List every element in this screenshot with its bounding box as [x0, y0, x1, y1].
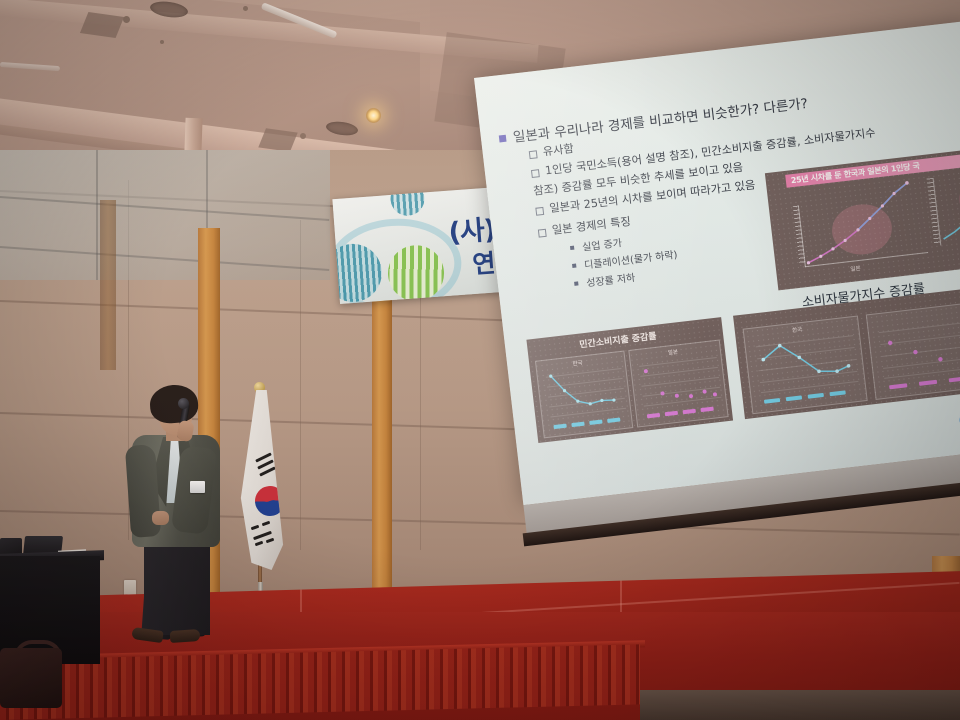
chart-group-cpi: 한국	[733, 284, 960, 419]
panel-label: 한국	[572, 358, 583, 367]
section-title-cpi: 소비자물가지수 증감률	[801, 278, 926, 311]
slide-bullet: 1인당 국민소득(용어 설명 참조), 민간소비지출 증감률, 소비자물가지수	[544, 124, 876, 178]
panel-label: 일본	[667, 347, 678, 356]
line-korea-cpi	[744, 317, 867, 414]
slide-subbullet: 성장률 저하	[585, 269, 636, 290]
chart-group-consumption: 민간소비지출 증감률 한국	[526, 317, 733, 443]
event-banner: (사) 연	[332, 187, 505, 304]
microphone-head	[178, 398, 189, 409]
bullet-marker-level3	[574, 281, 578, 285]
sprinkler-icon	[243, 6, 248, 11]
hall-pillar	[372, 268, 392, 618]
chart-panel-japan: 일본	[628, 339, 728, 427]
slide-heading: 일본과 우리나라 경제를 비교하면 비슷한가? 다른가?	[512, 92, 809, 146]
slide-surface: 일본과 우리나라 경제를 비교하면 비슷한가? 다른가? 유사함 1인당 국민소…	[474, 21, 960, 506]
line-japan-consumption	[629, 341, 727, 427]
y-axis	[933, 178, 942, 246]
chart-income-line-right	[930, 147, 960, 272]
y-axis-ticks	[927, 178, 941, 244]
bag[interactable]	[0, 648, 62, 708]
chart-panel-japan-cpi	[866, 301, 960, 400]
panel-label: 한국	[792, 325, 803, 334]
taeguk-symbol	[250, 481, 291, 522]
x-axis	[805, 252, 928, 267]
bullet-marker-level2	[535, 207, 544, 216]
upper-glass-panel	[0, 150, 330, 280]
chart-income-lag: 25년 시차를 둔 한국과 일본의 1인당 국 일본	[765, 147, 960, 291]
chart-x-label: 일본	[850, 264, 861, 273]
hall-pillar	[100, 200, 116, 370]
slide-decoration-petals	[955, 402, 960, 443]
trousers	[144, 540, 210, 635]
slide-subbullet: 실업 증가	[581, 234, 622, 253]
ceiling-downlight	[366, 108, 381, 123]
bullet-marker-level2	[529, 150, 538, 159]
y-axis-ticks	[793, 206, 806, 266]
sprinkler-icon	[160, 40, 164, 44]
chart-banner-title: 25년 시차를 둔 한국과 일본의 1인당 국	[785, 152, 960, 188]
chart-highlight-blob	[829, 201, 894, 258]
chart-income-line	[765, 147, 960, 291]
bullet-marker-level3	[572, 264, 576, 268]
sprinkler-icon	[123, 16, 130, 23]
presenter	[118, 385, 238, 650]
bullet-marker-level2	[538, 229, 547, 238]
bullet-marker-level3	[570, 246, 574, 250]
bullet-marker-level2	[531, 169, 540, 178]
y-axis	[798, 206, 806, 268]
chart-group-title: 민간소비지출 증감률	[579, 329, 658, 351]
slide-bullet: 일본 경제의 특징	[551, 213, 631, 238]
projection-screen: 일본과 우리나라 경제를 비교하면 비슷한가? 다른가? 유사함 1인당 국민소…	[474, 21, 960, 545]
name-badge	[190, 481, 205, 493]
flag-cloth	[237, 390, 285, 570]
line-korea-consumption	[536, 352, 632, 438]
conference-photo: (사) 연 일본과 우리나라 경제를 비교하면 비슷한가? 다른가? 유사함 1…	[0, 0, 960, 720]
slide-bullet: 참조) 증감률 모두 비슷한 추세를 보이고 있음	[532, 159, 743, 199]
chart-panel-korea: 한국	[535, 351, 633, 439]
wall-seam	[420, 260, 421, 550]
chart-panel-korea-cpi: 한국	[743, 315, 868, 414]
slide-bullet: 유사함	[542, 140, 575, 159]
slide-subbullet: 디플레이션(물가 하락)	[583, 246, 678, 272]
bullet-marker-level1	[499, 135, 507, 143]
shoe-right	[170, 629, 201, 643]
slide-bullet: 일본과 25년의 시차를 보이며 따라가고 있음	[549, 176, 756, 216]
hall-floor	[640, 690, 960, 720]
line-japan-cpi	[867, 303, 960, 399]
hand-left	[152, 511, 169, 525]
sprinkler-icon	[300, 133, 306, 139]
